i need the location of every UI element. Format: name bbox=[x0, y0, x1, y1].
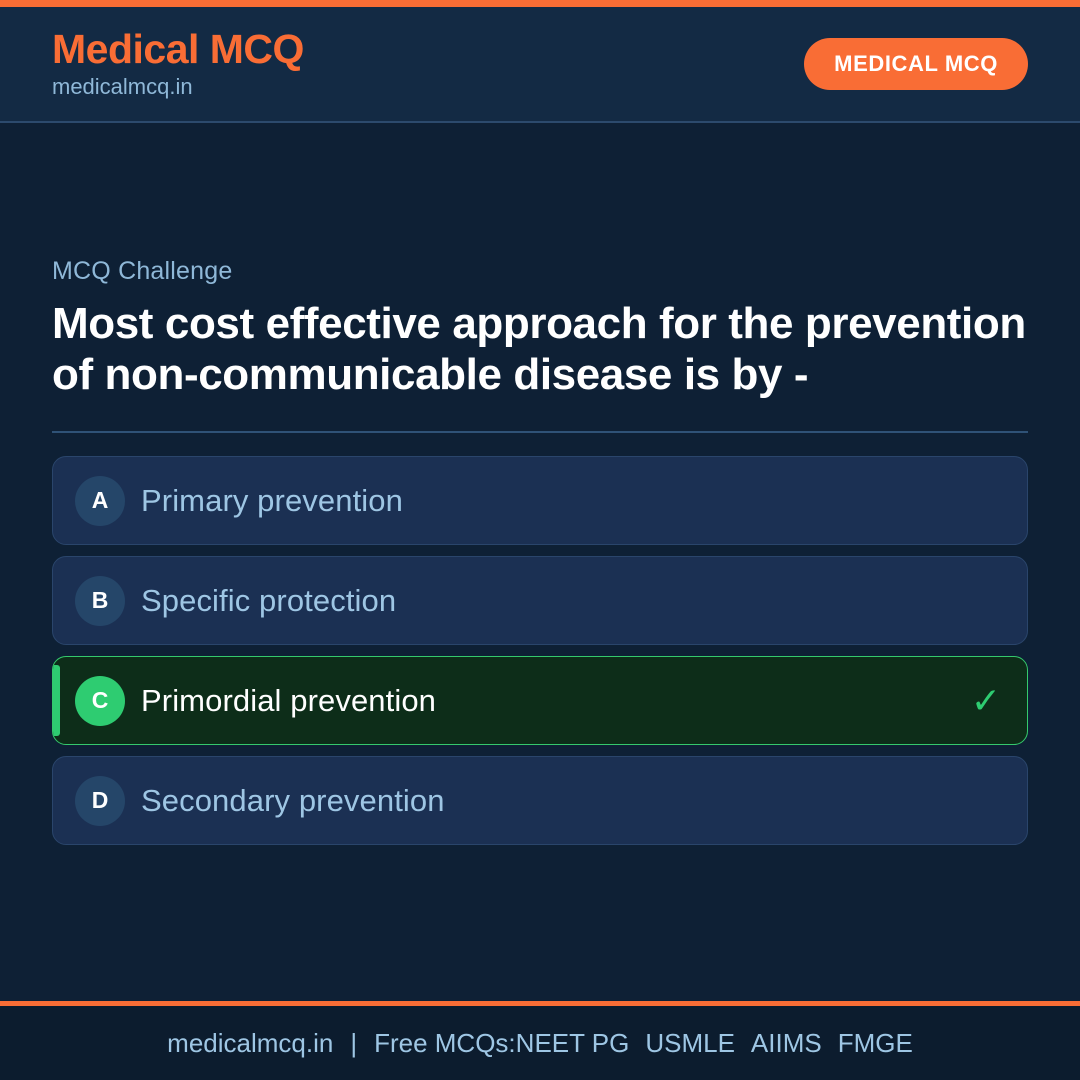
footer-site[interactable]: medicalmcq.in bbox=[167, 1028, 333, 1059]
brand: Medical MCQ medicalmcq.in bbox=[52, 28, 304, 101]
option-label: Specific protection bbox=[141, 583, 1001, 619]
footer-exam-list: NEET PG USMLE AIIMS FMGE bbox=[516, 1028, 913, 1059]
page-header: Medical MCQ medicalmcq.in MEDICAL MCQ bbox=[0, 7, 1080, 123]
option-label: Secondary prevention bbox=[141, 783, 1001, 819]
main-content: MCQ Challenge Most cost effective approa… bbox=[0, 123, 1080, 1001]
option-d[interactable]: D Secondary prevention bbox=[52, 756, 1028, 845]
options-list: A Primary prevention B Specific protecti… bbox=[52, 456, 1028, 845]
option-letter-badge: D bbox=[75, 776, 125, 826]
brand-subtitle: medicalmcq.in bbox=[52, 73, 304, 101]
question-text: Most cost effective approach for the pre… bbox=[52, 298, 1028, 401]
footer-separator: | bbox=[333, 1028, 374, 1059]
page-footer: medicalmcq.in | Free MCQs: NEET PG USMLE… bbox=[0, 1006, 1080, 1080]
option-letter-badge: B bbox=[75, 576, 125, 626]
brand-title: Medical MCQ bbox=[52, 28, 304, 71]
option-label: Primordial prevention bbox=[141, 683, 971, 719]
option-b[interactable]: B Specific protection bbox=[52, 556, 1028, 645]
footer-exam-usmle[interactable]: USMLE bbox=[645, 1028, 735, 1059]
option-a[interactable]: A Primary prevention bbox=[52, 456, 1028, 545]
header-badge[interactable]: MEDICAL MCQ bbox=[804, 38, 1028, 90]
footer-exam-neet-pg[interactable]: NEET PG bbox=[516, 1028, 630, 1059]
option-letter-badge: C bbox=[75, 676, 125, 726]
footer-exam-aiims[interactable]: AIIMS bbox=[751, 1028, 822, 1059]
option-letter-badge: A bbox=[75, 476, 125, 526]
mcq-card: Medical MCQ medicalmcq.in MEDICAL MCQ MC… bbox=[0, 0, 1080, 1080]
footer-exam-fmge[interactable]: FMGE bbox=[838, 1028, 913, 1059]
option-label: Primary prevention bbox=[141, 483, 1001, 519]
check-icon: ✓ bbox=[971, 683, 1001, 719]
top-accent-bar bbox=[0, 0, 1080, 7]
kicker-label: MCQ Challenge bbox=[52, 257, 1028, 286]
footer-label: Free MCQs: bbox=[374, 1028, 516, 1059]
option-c[interactable]: C Primordial prevention ✓ bbox=[52, 656, 1028, 745]
question-divider bbox=[52, 431, 1028, 433]
